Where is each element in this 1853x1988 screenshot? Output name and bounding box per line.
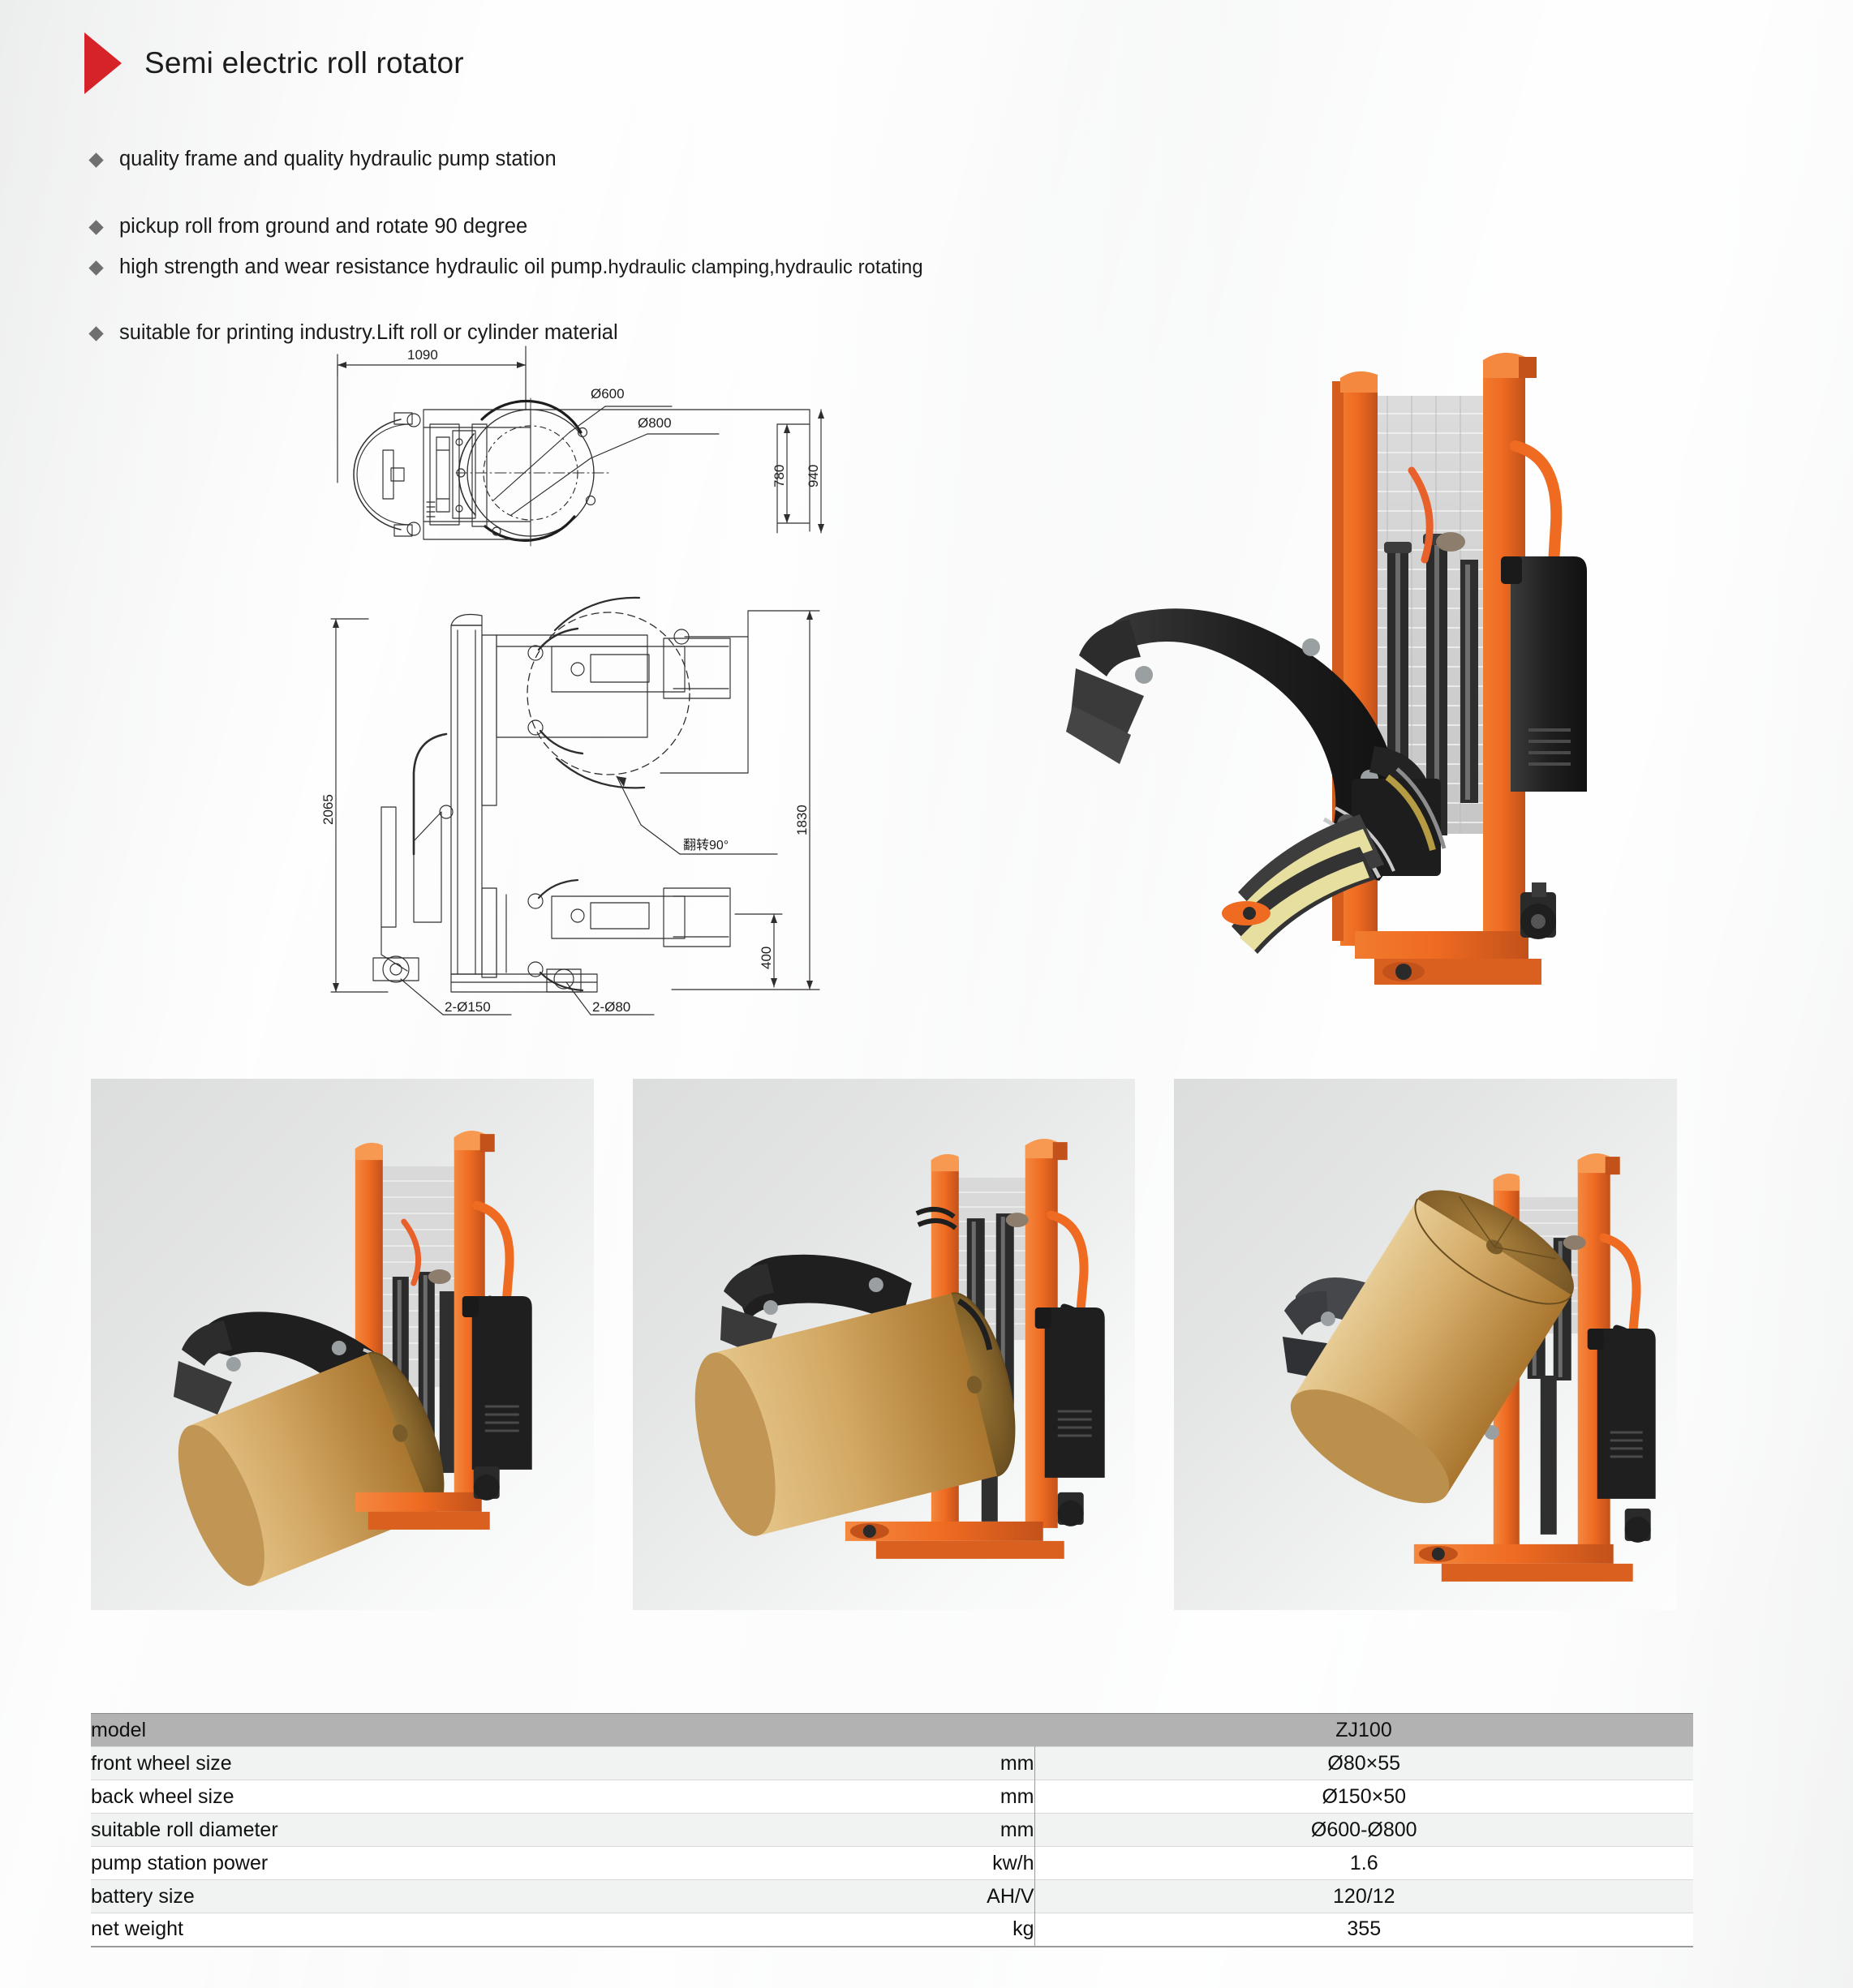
diamond-bullet-icon [88,221,103,235]
callout-back-wheel: 2-Ø150 [445,999,491,1015]
table-header-row: model ZJ100 [91,1714,1693,1747]
feature-bullet-list: quality frame and quality hydraulic pump… [91,148,1267,345]
table-row: suitable roll diameter mm Ø600-Ø800 [91,1814,1693,1847]
row-unit: mm [763,1780,1034,1814]
table-row: battery size AH/V 120/12 [91,1880,1693,1913]
bullet-text-part1: high strength and wear resistance hydrau… [119,255,608,278]
row-value: Ø150×50 [1034,1780,1693,1814]
product-photo-gallery [91,1079,1677,1610]
bullet-text-part2: hydraulic clamping,hydraulic rotating [608,256,922,278]
page-header: Semi electric roll rotator [84,32,464,94]
bullet-text: high strength and wear resistance hydrau… [119,255,923,279]
diamond-bullet-icon [88,326,103,341]
row-unit: mm [763,1814,1034,1847]
list-item: pickup roll from ground and rotate 90 de… [91,215,1267,238]
row-label: front wheel size [91,1747,763,1780]
gallery-photo-2 [633,1079,1136,1610]
dim-width-1090: 1090 [407,347,438,363]
dim-total-2065: 2065 [323,794,336,825]
diamond-bullet-icon [88,152,103,167]
dim-fork-400: 400 [759,947,774,969]
dim-lift-1830: 1830 [794,805,810,835]
table-row: back wheel size mm Ø150×50 [91,1780,1693,1814]
note-rotate-90: 翻转90° [683,838,729,852]
row-label: suitable roll diameter [91,1814,763,1847]
dim-roll-min-dia: Ø600 [591,386,625,401]
bullet-text: quality frame and quality hydraulic pump… [119,148,557,171]
row-label: battery size [91,1880,763,1913]
dim-roll-max-dia: Ø800 [638,415,672,431]
bullet-text: pickup roll from ground and rotate 90 de… [119,215,527,238]
dim-outer-940: 940 [806,465,821,487]
row-unit: kw/h [763,1847,1034,1880]
row-label: pump station power [91,1847,763,1880]
callout-front-wheel: 2-Ø80 [592,999,630,1015]
row-unit: mm [763,1747,1034,1780]
technical-drawing: 1090 Ø600 Ø800 780 940 2065 1830 400 翻转9… [323,328,842,1034]
table-header-model: model [91,1714,1034,1747]
table-row: front wheel size mm Ø80×55 [91,1747,1693,1780]
list-item: high strength and wear resistance hydrau… [91,255,1267,279]
row-value: Ø80×55 [1034,1747,1693,1780]
table-row: net weight kg 355 [91,1913,1693,1947]
row-value: 355 [1034,1913,1693,1947]
row-value: 1.6 [1034,1847,1693,1880]
table-header-value: ZJ100 [1034,1714,1693,1747]
list-item: quality frame and quality hydraulic pump… [91,148,1267,171]
page-title: Semi electric roll rotator [144,46,464,80]
row-value: 120/12 [1034,1880,1693,1913]
gallery-photo-1 [91,1079,594,1610]
row-unit: kg [763,1913,1034,1947]
hero-product-photo [1047,324,1631,1014]
dim-inner-780: 780 [772,465,787,487]
row-label: net weight [91,1913,763,1947]
row-label: back wheel size [91,1780,763,1814]
row-unit: AH/V [763,1880,1034,1913]
specification-table: model ZJ100 front wheel size mm Ø80×55 b… [91,1713,1693,1947]
red-triangle-arrow-icon [84,32,122,94]
gallery-photo-3 [1174,1079,1677,1610]
table-row: pump station power kw/h 1.6 [91,1847,1693,1880]
row-value: Ø600-Ø800 [1034,1814,1693,1847]
diamond-bullet-icon [88,260,103,275]
